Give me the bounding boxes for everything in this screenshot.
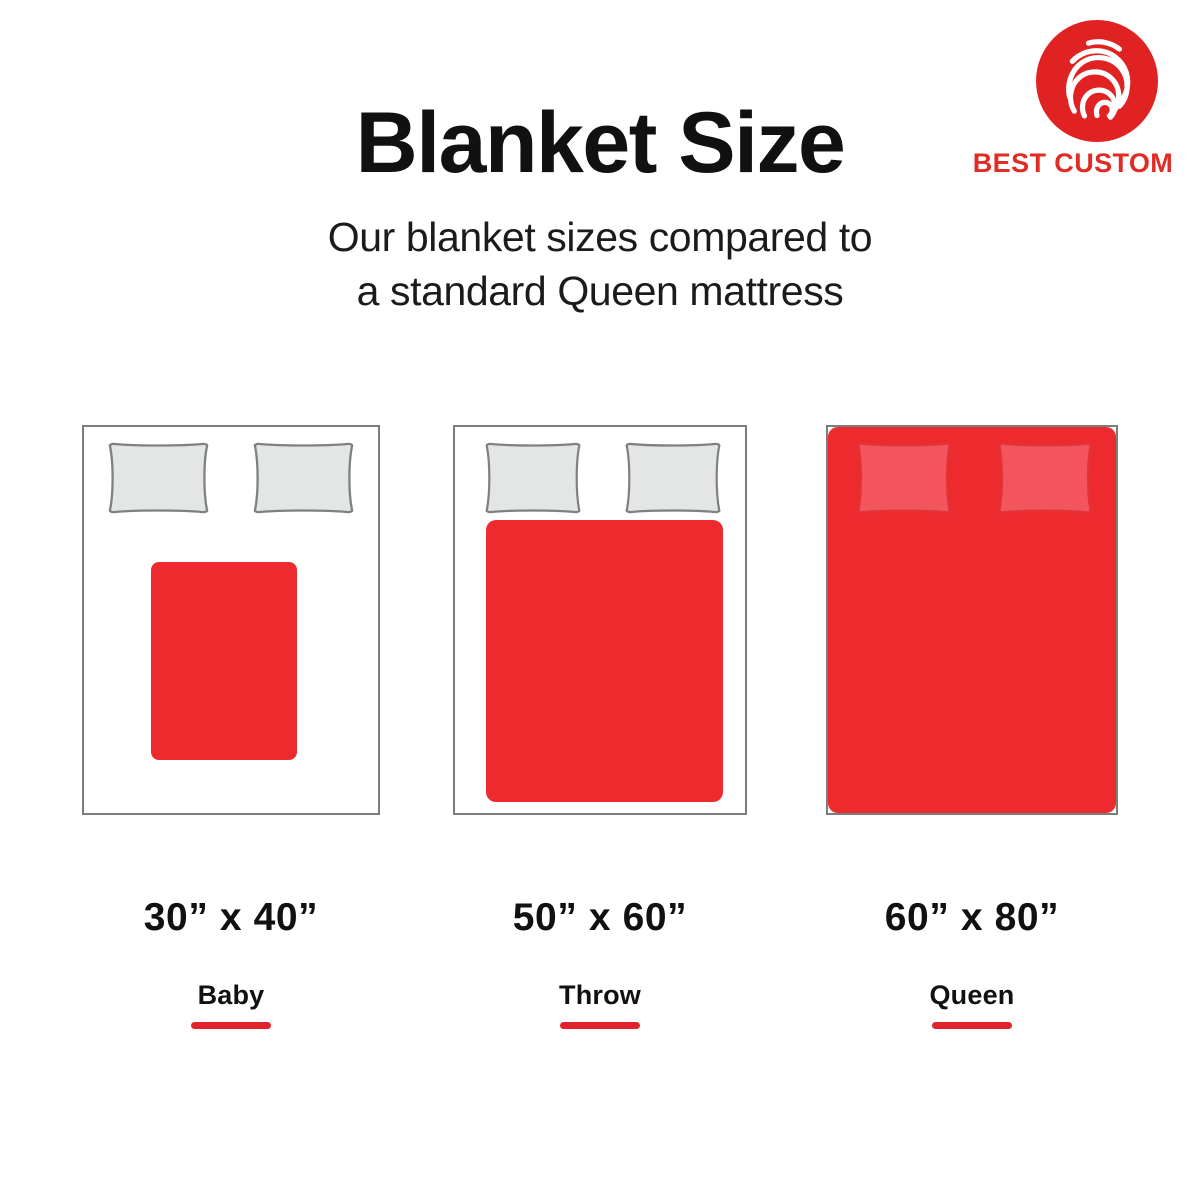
caption-underline-rule (191, 1022, 271, 1029)
headline-block: Blanket Size Our blanket sizes compared … (0, 98, 1200, 319)
blanket-swatch-baby (151, 562, 297, 760)
caption-group-baby: 30” x 40” Baby (81, 898, 381, 1029)
page-title: Blanket Size (0, 98, 1200, 188)
caption-size-name: Queen (825, 982, 1119, 1009)
blanket-swatch-throw (486, 520, 723, 802)
caption-dimensions: 50” x 60” (452, 898, 748, 937)
caption-size-name: Throw (452, 982, 748, 1009)
caption-size-name: Baby (81, 982, 381, 1009)
pillow-icon (106, 441, 211, 515)
captions-row: 30” x 40” Baby 50” x 60” Throw 60” x 80”… (0, 898, 1200, 1058)
caption-dimensions: 30” x 40” (81, 898, 381, 937)
pillow-icon (996, 441, 1094, 515)
bed-diagram-baby (82, 425, 380, 815)
pillow-icon (483, 441, 583, 515)
page-subtitle: Our blanket sizes compared to a standard… (0, 210, 1200, 318)
blanket-swatch-queen (828, 427, 1116, 813)
bed-diagram-queen (826, 425, 1118, 815)
caption-group-throw: 50” x 60” Throw (452, 898, 748, 1029)
pillow-icon (623, 441, 723, 515)
page-subtitle-line-2: a standard Queen mattress (357, 268, 844, 314)
caption-underline-rule (932, 1022, 1012, 1029)
bed-diagrams-row (0, 425, 1200, 815)
page-subtitle-line-1: Our blanket sizes compared to (328, 214, 872, 260)
bed-diagram-throw (453, 425, 747, 815)
pillow-icon (855, 441, 953, 515)
pillow-icon (251, 441, 356, 515)
caption-dimensions: 60” x 80” (825, 898, 1119, 937)
caption-underline-rule (560, 1022, 640, 1029)
caption-group-queen: 60” x 80” Queen (825, 898, 1119, 1029)
